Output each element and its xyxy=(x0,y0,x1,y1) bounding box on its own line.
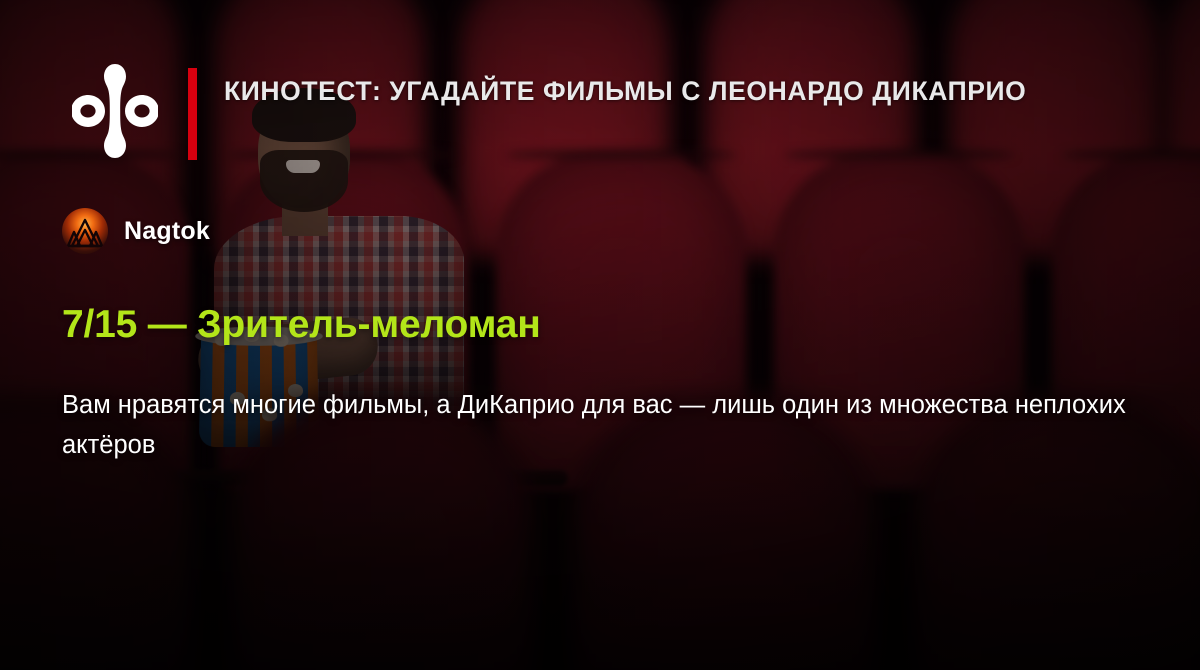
nagtok-avatar-icon[interactable] xyxy=(62,208,108,254)
dzen-logo-icon[interactable] xyxy=(72,62,158,160)
result-headline: 7/15 — Зритель-меломан xyxy=(62,303,541,347)
quiz-result-card: КИНОТЕСТ: УГАДАЙТЕ ФИЛЬМЫ С ЛЕОНАРДО ДИК… xyxy=(0,0,1200,670)
channel-row[interactable]: Nagtok xyxy=(62,208,210,254)
accent-divider xyxy=(188,68,197,160)
description-line-1: Вам нравятся многие фильмы, а ДиКаприо д… xyxy=(62,391,872,419)
channel-name[interactable]: Nagtok xyxy=(124,217,210,246)
result-description: Вам нравятся многие фильмы, а ДиКаприо д… xyxy=(62,385,1132,465)
quiz-title: КИНОТЕСТ: УГАДАЙТЕ ФИЛЬМЫ С ЛЕОНАРДО ДИК… xyxy=(224,76,1026,107)
card-content: КИНОТЕСТ: УГАДАЙТЕ ФИЛЬМЫ С ЛЕОНАРДО ДИК… xyxy=(0,0,1200,670)
